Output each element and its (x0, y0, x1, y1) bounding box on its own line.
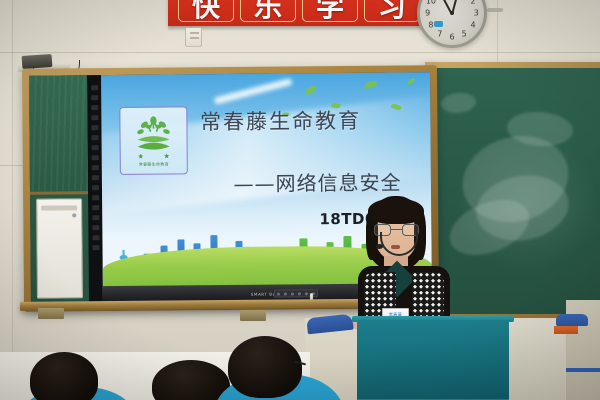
side-panel (29, 75, 89, 304)
clock-numeral: 5 (462, 30, 467, 39)
power-led (72, 213, 76, 217)
slide-subtitle: ——网络信息安全 (233, 166, 401, 196)
student (30, 352, 158, 400)
leaf-icon (304, 85, 316, 95)
wall-seam-vertical (12, 0, 13, 400)
shelf-bracket (38, 308, 64, 319)
student-head (152, 360, 230, 400)
leaf-icon (407, 78, 416, 86)
clock-numeral: 4 (471, 21, 476, 30)
wall-socket (185, 27, 202, 47)
chalk-smudge (440, 91, 476, 114)
optical-drive[interactable] (41, 205, 77, 210)
clock-mount (487, 8, 503, 12)
banner-char: 习 (364, 0, 420, 22)
wall-stripe (566, 368, 600, 372)
wall-seam (0, 52, 600, 53)
lectern (357, 320, 509, 400)
student (228, 336, 362, 400)
chalkboard-surface (431, 68, 600, 314)
clock-numeral: 9 (425, 9, 430, 18)
ivy-logo: 常春藤生命教育 (119, 106, 188, 175)
student-head (30, 352, 98, 400)
student-head (228, 336, 302, 398)
pc-tower[interactable] (36, 198, 83, 298)
shelf-bracket (240, 310, 266, 321)
clock-center-pin (450, 11, 454, 15)
clock-logo (434, 21, 443, 27)
side-chalk-panel (29, 75, 88, 195)
screen-glare (213, 78, 292, 105)
clock-numeral: 7 (437, 30, 442, 39)
classroom-scene: 快 乐 学 习 121234567891011 (0, 0, 600, 400)
banner-char: 乐 (240, 0, 296, 22)
mic-capsule (376, 244, 383, 249)
leaf-icon (364, 81, 378, 89)
logo-caption: 常春藤生命教育 (139, 162, 169, 168)
banner-shadow (168, 26, 430, 31)
clock-numeral: 6 (449, 33, 454, 42)
clock-numeral: 3 (474, 9, 479, 18)
hair-fringe (368, 198, 424, 224)
blue-bag (556, 314, 588, 326)
clock-numeral: 8 (428, 21, 433, 30)
clock-numeral: 10 (426, 0, 436, 5)
motivational-banner: 快 乐 学 习 (168, 0, 430, 26)
floating-leaves (101, 72, 430, 75)
banner-char: 快 (178, 0, 234, 22)
orange-object (554, 326, 578, 334)
slide-title: 常春藤生命教育 (200, 105, 361, 136)
banner-char: 学 (302, 0, 358, 22)
ivy-leaf-icon (130, 114, 176, 160)
clock-numeral: 2 (471, 0, 476, 5)
